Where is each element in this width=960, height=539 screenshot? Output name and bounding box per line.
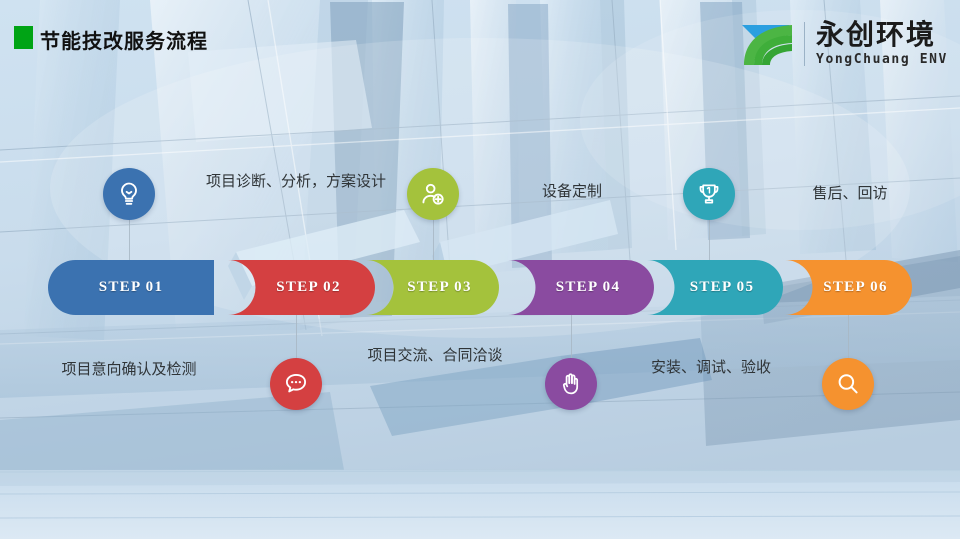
- step-description-6: 售后、回访: [788, 182, 912, 205]
- connector-line-4: [571, 312, 572, 364]
- step-label-3: STEP 03: [366, 260, 499, 315]
- step-label-5: STEP 05: [647, 260, 783, 315]
- page-title: 节能技改服务流程: [40, 25, 208, 54]
- step-chevron-3[interactable]: STEP 03: [366, 260, 499, 315]
- step-chevron-5[interactable]: STEP 05: [647, 260, 783, 315]
- step-label-6: STEP 06: [785, 260, 912, 315]
- page-header: 节能技改服务流程 永创环境 YongChuang ENV: [0, 0, 960, 72]
- step-chevron-6[interactable]: STEP 06: [785, 260, 912, 315]
- step-description-1: 项目意向确认及检测: [29, 358, 229, 381]
- title-accent-bar: [14, 26, 33, 49]
- step-chevron-2[interactable]: STEP 02: [228, 260, 375, 315]
- process-flow-diagram: STEP 01 项目意向确认及检测 STEP 02 项目诊断、分析，方案设计 S…: [0, 0, 960, 539]
- step-icon-6-magnifier-icon[interactable]: [822, 358, 874, 410]
- logo-mark-icon: [738, 19, 800, 69]
- step-icon-4-hand-icon[interactable]: [545, 358, 597, 410]
- company-logo: 永创环境 YongChuang ENV: [738, 16, 948, 72]
- connector-line-6: [848, 312, 849, 364]
- step-icon-3-add-user-icon[interactable]: [407, 168, 459, 220]
- step-icon-5-trophy-icon[interactable]: [683, 168, 735, 220]
- step-description-3: 项目交流、合同洽谈: [355, 344, 515, 367]
- logo-divider: [804, 22, 805, 66]
- logo-name-en: YongChuang ENV: [816, 52, 948, 67]
- step-chevron-1[interactable]: STEP 01: [48, 260, 214, 315]
- step-description-4: 设备定制: [512, 180, 632, 203]
- step-icon-2-chat-bubble-icon[interactable]: [270, 358, 322, 410]
- connector-line-2: [296, 312, 297, 364]
- logo-name-cn: 永创环境: [816, 21, 948, 50]
- step-chevron-4[interactable]: STEP 04: [508, 260, 654, 315]
- step-description-2: 项目诊断、分析，方案设计: [202, 170, 390, 193]
- step-label-2: STEP 02: [228, 260, 375, 315]
- step-label-4: STEP 04: [508, 260, 654, 315]
- step-label-1: STEP 01: [48, 260, 214, 315]
- step-icon-1-lightbulb-icon[interactable]: [103, 168, 155, 220]
- step-description-5: 安装、调试、验收: [622, 356, 800, 379]
